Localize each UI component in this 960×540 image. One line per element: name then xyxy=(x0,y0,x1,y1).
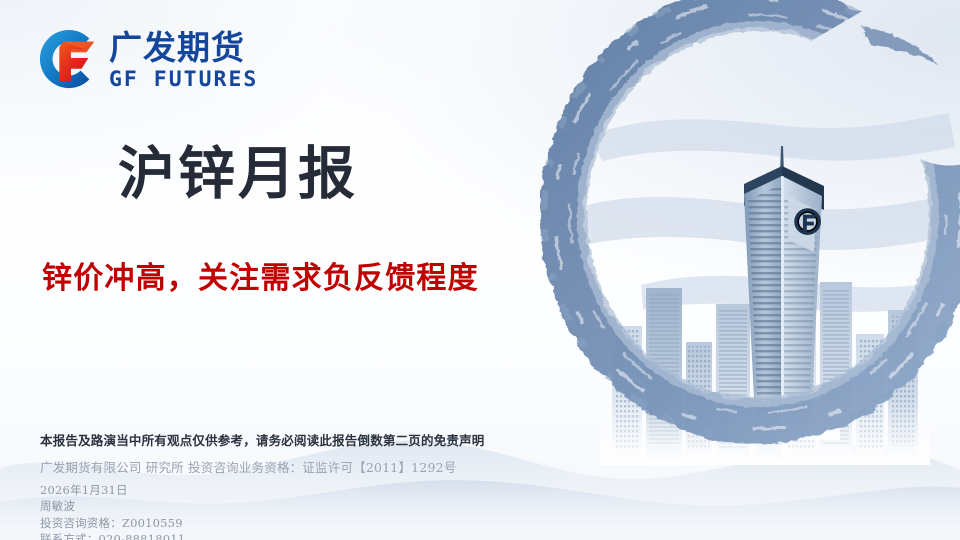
gf-headquarters-tower-icon xyxy=(728,140,840,440)
ink-cloud-streak-icon xyxy=(545,95,960,325)
page-subtitle: 锌价冲高，关注需求负反馈程度 xyxy=(42,264,479,294)
contact-block: 2026年1月31日 周敏波 投资咨询资格：Z0010559 联系方式：020-… xyxy=(40,482,185,540)
disclaimer-text: 本报告及路演当中所有观点仅供参考，请务必阅读此报告倒数第二页的免责声明 xyxy=(40,430,485,449)
brand-name-cn: 广发期货 xyxy=(109,31,255,64)
gf-circle-f-logo-icon xyxy=(38,28,100,90)
brand-name-en: GF FUTURES xyxy=(109,69,258,90)
page-title: 沪锌月报 xyxy=(118,146,358,203)
contact-phone: 联系方式：020-88818011 xyxy=(40,531,185,540)
ink-brush-enso-circle-icon xyxy=(540,0,960,458)
brand-logo: 广发期货 GF FUTURES xyxy=(38,28,255,90)
analyst-license: 投资咨询资格：Z0010559 xyxy=(40,515,185,531)
city-skyline-icon xyxy=(600,230,930,465)
report-cover-slide: 广发期货 GF FUTURES 沪锌月报 锌价冲高，关注需求负反馈程度 本报告及… xyxy=(0,0,960,540)
entity-license-line: 广发期货有限公司 研究所 投资咨询业务资格：证监许可【2011】1292号 xyxy=(40,457,456,476)
report-date: 2026年1月31日 xyxy=(40,482,185,498)
analyst-name: 周敏波 xyxy=(40,498,185,514)
